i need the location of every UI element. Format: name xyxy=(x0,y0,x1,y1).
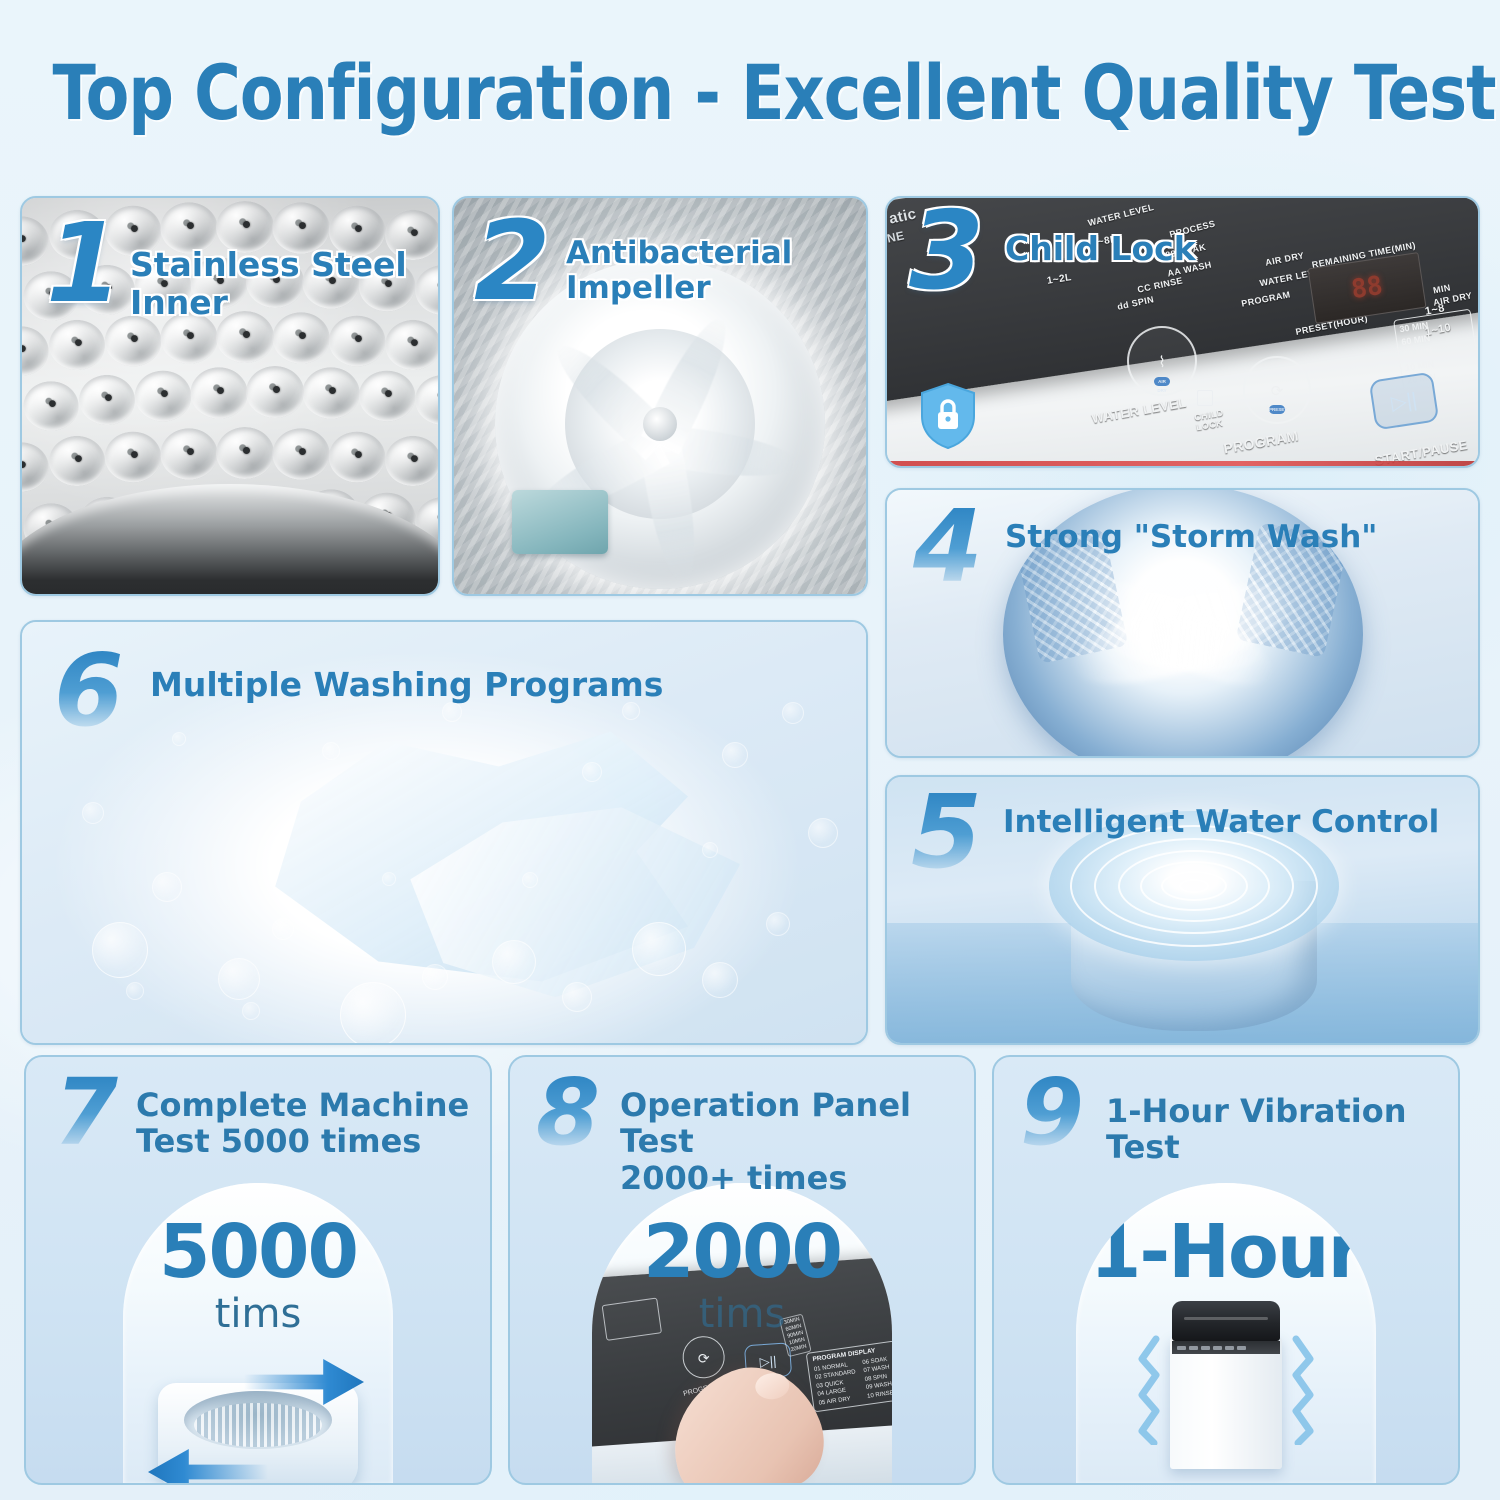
feature-panel-2: 2 Antibacterial Impeller xyxy=(452,196,868,596)
feature-panel-5: 5 Intelligent Water Control xyxy=(885,775,1480,1045)
program-button[interactable]: ⟳ PRESET xyxy=(1243,356,1311,424)
washing-machine-illustration xyxy=(1170,1301,1282,1469)
vibration-lines-right-icon xyxy=(1290,1335,1316,1445)
feature-panel-8: 8 Operation Panel Test 2000+ times PROGR… xyxy=(508,1055,976,1485)
feature-label-7-line2: Test 5000 times xyxy=(136,1123,469,1159)
feature-7-big-unit: tims xyxy=(123,1291,393,1337)
feature-panel-6: 6 Multiple Washing Programs xyxy=(20,620,868,1045)
feature-label-8-line2: 2000+ times xyxy=(620,1160,974,1196)
feature-label-3: Child Lock xyxy=(1005,230,1196,268)
program-button-small[interactable]: ⟳ xyxy=(681,1335,726,1380)
feature-number-3: 3 xyxy=(909,208,984,297)
preset-chip[interactable]: PRESET xyxy=(1269,405,1285,414)
led-value: 88 xyxy=(1349,271,1384,305)
air-dry-chip[interactable]: AIR DRY xyxy=(1154,377,1170,386)
feature-panel-4: 4 Strong "Storm Wash" xyxy=(885,488,1480,758)
feature-label-4: Strong "Storm Wash" xyxy=(1005,520,1377,555)
feature-panel-7: 7 Complete Machine Test 5000 times 5000 … xyxy=(24,1055,492,1485)
feature-label-9: 1-Hour Vibration Test xyxy=(1106,1093,1458,1166)
feature-panel-1: 1 Stainless Steel Inner xyxy=(20,196,440,596)
feature-number-8: 8 xyxy=(536,1075,600,1150)
feature-label-2-line1: Antibacterial xyxy=(566,236,836,271)
feature-label-1: Stainless Steel Inner xyxy=(130,246,438,321)
rotating-drum-illustration xyxy=(158,1353,358,1483)
lint-filter xyxy=(512,490,608,554)
feature-7-big-value: 5000 xyxy=(123,1209,393,1295)
feature-panel-3: atic NE WATER LEVEL 7~8L 1~2L PROCESS 88… xyxy=(885,196,1480,468)
vibration-lines-left-icon xyxy=(1136,1335,1162,1445)
feature-number-9: 9 xyxy=(1020,1075,1084,1150)
feature-9-arch: 1-Hour xyxy=(1076,1183,1376,1483)
feature-number-6: 6 xyxy=(54,650,124,732)
feature-8-arch: PROGRAM DISPLAY 01 NORMAL 06 SOAK 02 STA… xyxy=(592,1183,892,1483)
feature-8-big-value: 2000 xyxy=(592,1209,892,1295)
feature-9-big-value: 1-Hour xyxy=(1076,1209,1376,1295)
feature-number-5: 5 xyxy=(911,791,982,875)
feature-7-arch: 5000 tims xyxy=(123,1183,393,1483)
water-level-button[interactable]: ⌇ AIR DRY xyxy=(1127,326,1197,396)
start-pause-button[interactable]: ▷|| xyxy=(1369,372,1440,431)
program-display-list: PROGRAM DISPLAY 01 NORMAL 06 SOAK 02 STA… xyxy=(806,1338,892,1413)
child-lock-icon[interactable] xyxy=(1197,390,1213,406)
feature-label-2-line2: Impeller xyxy=(566,271,836,306)
feature-label-7: Complete Machine Test 5000 times xyxy=(136,1087,469,1160)
feature-label-2: Antibacterial Impeller xyxy=(566,236,836,307)
feature-number-2: 2 xyxy=(474,216,551,306)
feature-label-7-line1: Complete Machine xyxy=(136,1087,469,1123)
water-tub xyxy=(1049,811,1339,1041)
feature-panel-9: 9 1-Hour Vibration Test 1-Hour xyxy=(992,1055,1460,1485)
feature-label-8: Operation Panel Test 2000+ times xyxy=(620,1087,974,1196)
feature-number-7: 7 xyxy=(54,1075,118,1150)
feature-number-1: 1 xyxy=(46,218,123,308)
shield-lock-icon xyxy=(919,382,977,450)
feature-label-8-line1: Operation Panel Test xyxy=(620,1087,974,1160)
feature-8-big-unit: tims xyxy=(592,1291,892,1337)
feature-number-4: 4 xyxy=(913,506,983,588)
feature-label-5: Intelligent Water Control xyxy=(1003,805,1439,840)
page-title: Top Configuration - Excellent Quality Te… xyxy=(53,48,1448,137)
feature-label-6: Multiple Washing Programs xyxy=(150,666,663,704)
